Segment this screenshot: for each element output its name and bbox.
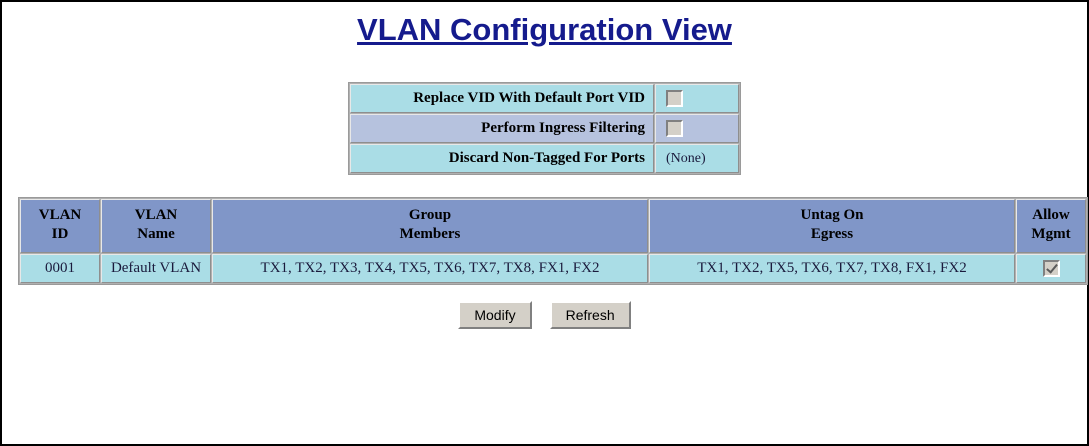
- column-header-vlan-name-line2: Name: [104, 225, 208, 244]
- action-button-bar: Modify Refresh: [2, 301, 1087, 329]
- global-settings-table: Replace VID With Default Port VID Perfor…: [348, 82, 741, 175]
- setting-value-ingress-filtering: [655, 114, 739, 143]
- column-header-vlan-name-line1: VLAN: [104, 206, 208, 225]
- setting-label-ingress-filtering: Perform Ingress Filtering: [350, 114, 654, 143]
- cell-untag-on-egress: TX1, TX2, TX5, TX6, TX7, TX8, FX1, FX2: [649, 254, 1015, 283]
- vlan-configuration-page: VLAN Configuration View Replace VID With…: [0, 0, 1089, 446]
- vlan-table: VLAN ID VLAN Name Group Members Untag On…: [18, 197, 1088, 285]
- global-settings-section: Replace VID With Default Port VID Perfor…: [2, 82, 1087, 175]
- discard-non-tagged-value: (None): [666, 151, 706, 166]
- cell-allow-mgmt: [1016, 254, 1086, 283]
- setting-label-discard-non-tagged: Discard Non-Tagged For Ports: [350, 144, 654, 173]
- column-header-allow-mgmt-line1: Allow: [1019, 206, 1083, 225]
- setting-row-replace-vid: Replace VID With Default Port VID: [350, 84, 739, 113]
- modify-button[interactable]: Modify: [458, 301, 531, 329]
- perform-ingress-filtering-checkbox[interactable]: [666, 120, 683, 137]
- vlan-table-body: 0001 Default VLAN TX1, TX2, TX3, TX4, TX…: [20, 254, 1086, 283]
- column-header-vlan-id-line2: ID: [23, 225, 97, 244]
- column-header-untag-on-egress-line2: Egress: [652, 225, 1012, 244]
- setting-row-ingress-filtering: Perform Ingress Filtering: [350, 114, 739, 143]
- column-header-untag-on-egress-line1: Untag On: [652, 206, 1012, 225]
- column-header-group-members-line2: Members: [215, 225, 645, 244]
- column-header-allow-mgmt: Allow Mgmt: [1016, 199, 1086, 253]
- setting-label-replace-vid: Replace VID With Default Port VID: [350, 84, 654, 113]
- replace-vid-checkbox[interactable]: [666, 90, 683, 107]
- cell-group-members: TX1, TX2, TX3, TX4, TX5, TX6, TX7, TX8, …: [212, 254, 648, 283]
- vlan-table-header-row: VLAN ID VLAN Name Group Members Untag On…: [20, 199, 1086, 253]
- page-title: VLAN Configuration View: [357, 10, 732, 50]
- global-settings-body: Replace VID With Default Port VID Perfor…: [350, 84, 739, 173]
- cell-vlan-name: Default VLAN: [101, 254, 211, 283]
- refresh-button[interactable]: Refresh: [550, 301, 631, 329]
- title-bar: VLAN Configuration View: [2, 2, 1087, 54]
- column-header-untag-on-egress: Untag On Egress: [649, 199, 1015, 253]
- allow-mgmt-checkbox[interactable]: [1043, 260, 1060, 277]
- vlan-list-section: VLAN ID VLAN Name Group Members Untag On…: [2, 197, 1087, 285]
- column-header-group-members-line1: Group: [215, 206, 645, 225]
- column-header-vlan-id-line1: VLAN: [23, 206, 97, 225]
- column-header-vlan-id: VLAN ID: [20, 199, 100, 253]
- cell-vlan-id: 0001: [20, 254, 100, 283]
- setting-row-discard-non-tagged: Discard Non-Tagged For Ports (None): [350, 144, 739, 173]
- column-header-vlan-name: VLAN Name: [101, 199, 211, 253]
- vlan-table-head: VLAN ID VLAN Name Group Members Untag On…: [20, 199, 1086, 253]
- setting-value-replace-vid: [655, 84, 739, 113]
- column-header-group-members: Group Members: [212, 199, 648, 253]
- setting-value-discard-non-tagged: (None): [655, 144, 739, 173]
- table-row[interactable]: 0001 Default VLAN TX1, TX2, TX3, TX4, TX…: [20, 254, 1086, 283]
- column-header-allow-mgmt-line2: Mgmt: [1019, 225, 1083, 244]
